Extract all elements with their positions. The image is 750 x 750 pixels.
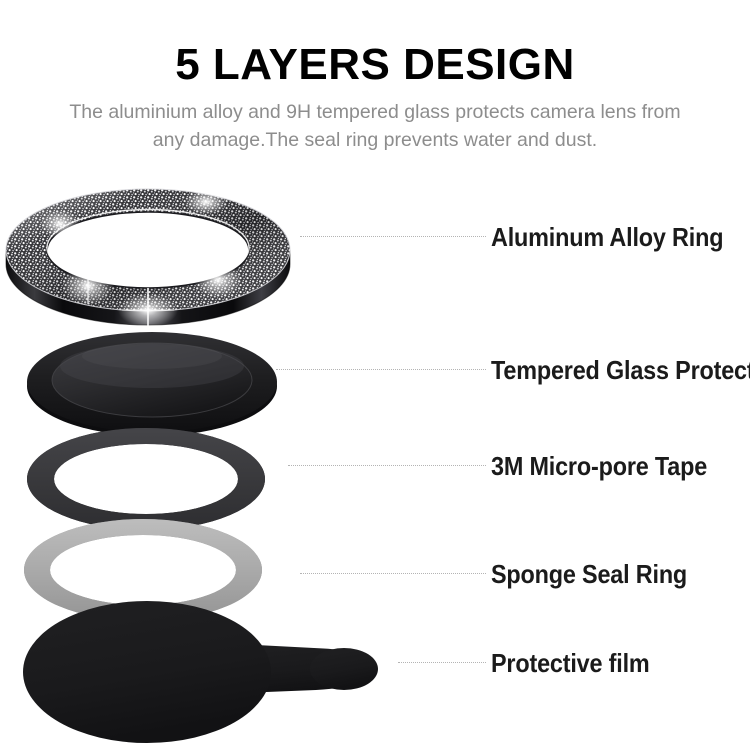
layer-art-aluminum-alloy-ring bbox=[0, 168, 300, 338]
leader-line-protective-film bbox=[398, 662, 486, 664]
leader-line-sponge-seal-ring bbox=[300, 573, 486, 575]
product-layers-infographic: 5 LAYERS DESIGN The aluminium alloy and … bbox=[0, 0, 750, 750]
leader-line-3m-micro-pore-tape bbox=[288, 465, 486, 467]
layer-label-sponge-seal-ring: Sponge Seal Ring bbox=[491, 559, 687, 590]
layer-art-protective-film bbox=[14, 598, 404, 750]
layer-label-3m-micro-pore-tape: 3M Micro-pore Tape bbox=[491, 451, 707, 482]
layer-art-tempered-glass-protector bbox=[22, 326, 282, 436]
exploded-layers-diagram: Aluminum Alloy Ring Tempered Glass Prote… bbox=[0, 0, 750, 750]
layer-label-tempered-glass-protector: Tempered Glass Protector bbox=[491, 355, 750, 386]
leader-line-tempered-glass-protector bbox=[276, 369, 486, 371]
leader-line-aluminum-alloy-ring bbox=[300, 236, 486, 238]
layer-label-aluminum-alloy-ring: Aluminum Alloy Ring bbox=[491, 222, 723, 253]
layer-label-protective-film: Protective film bbox=[491, 648, 650, 679]
